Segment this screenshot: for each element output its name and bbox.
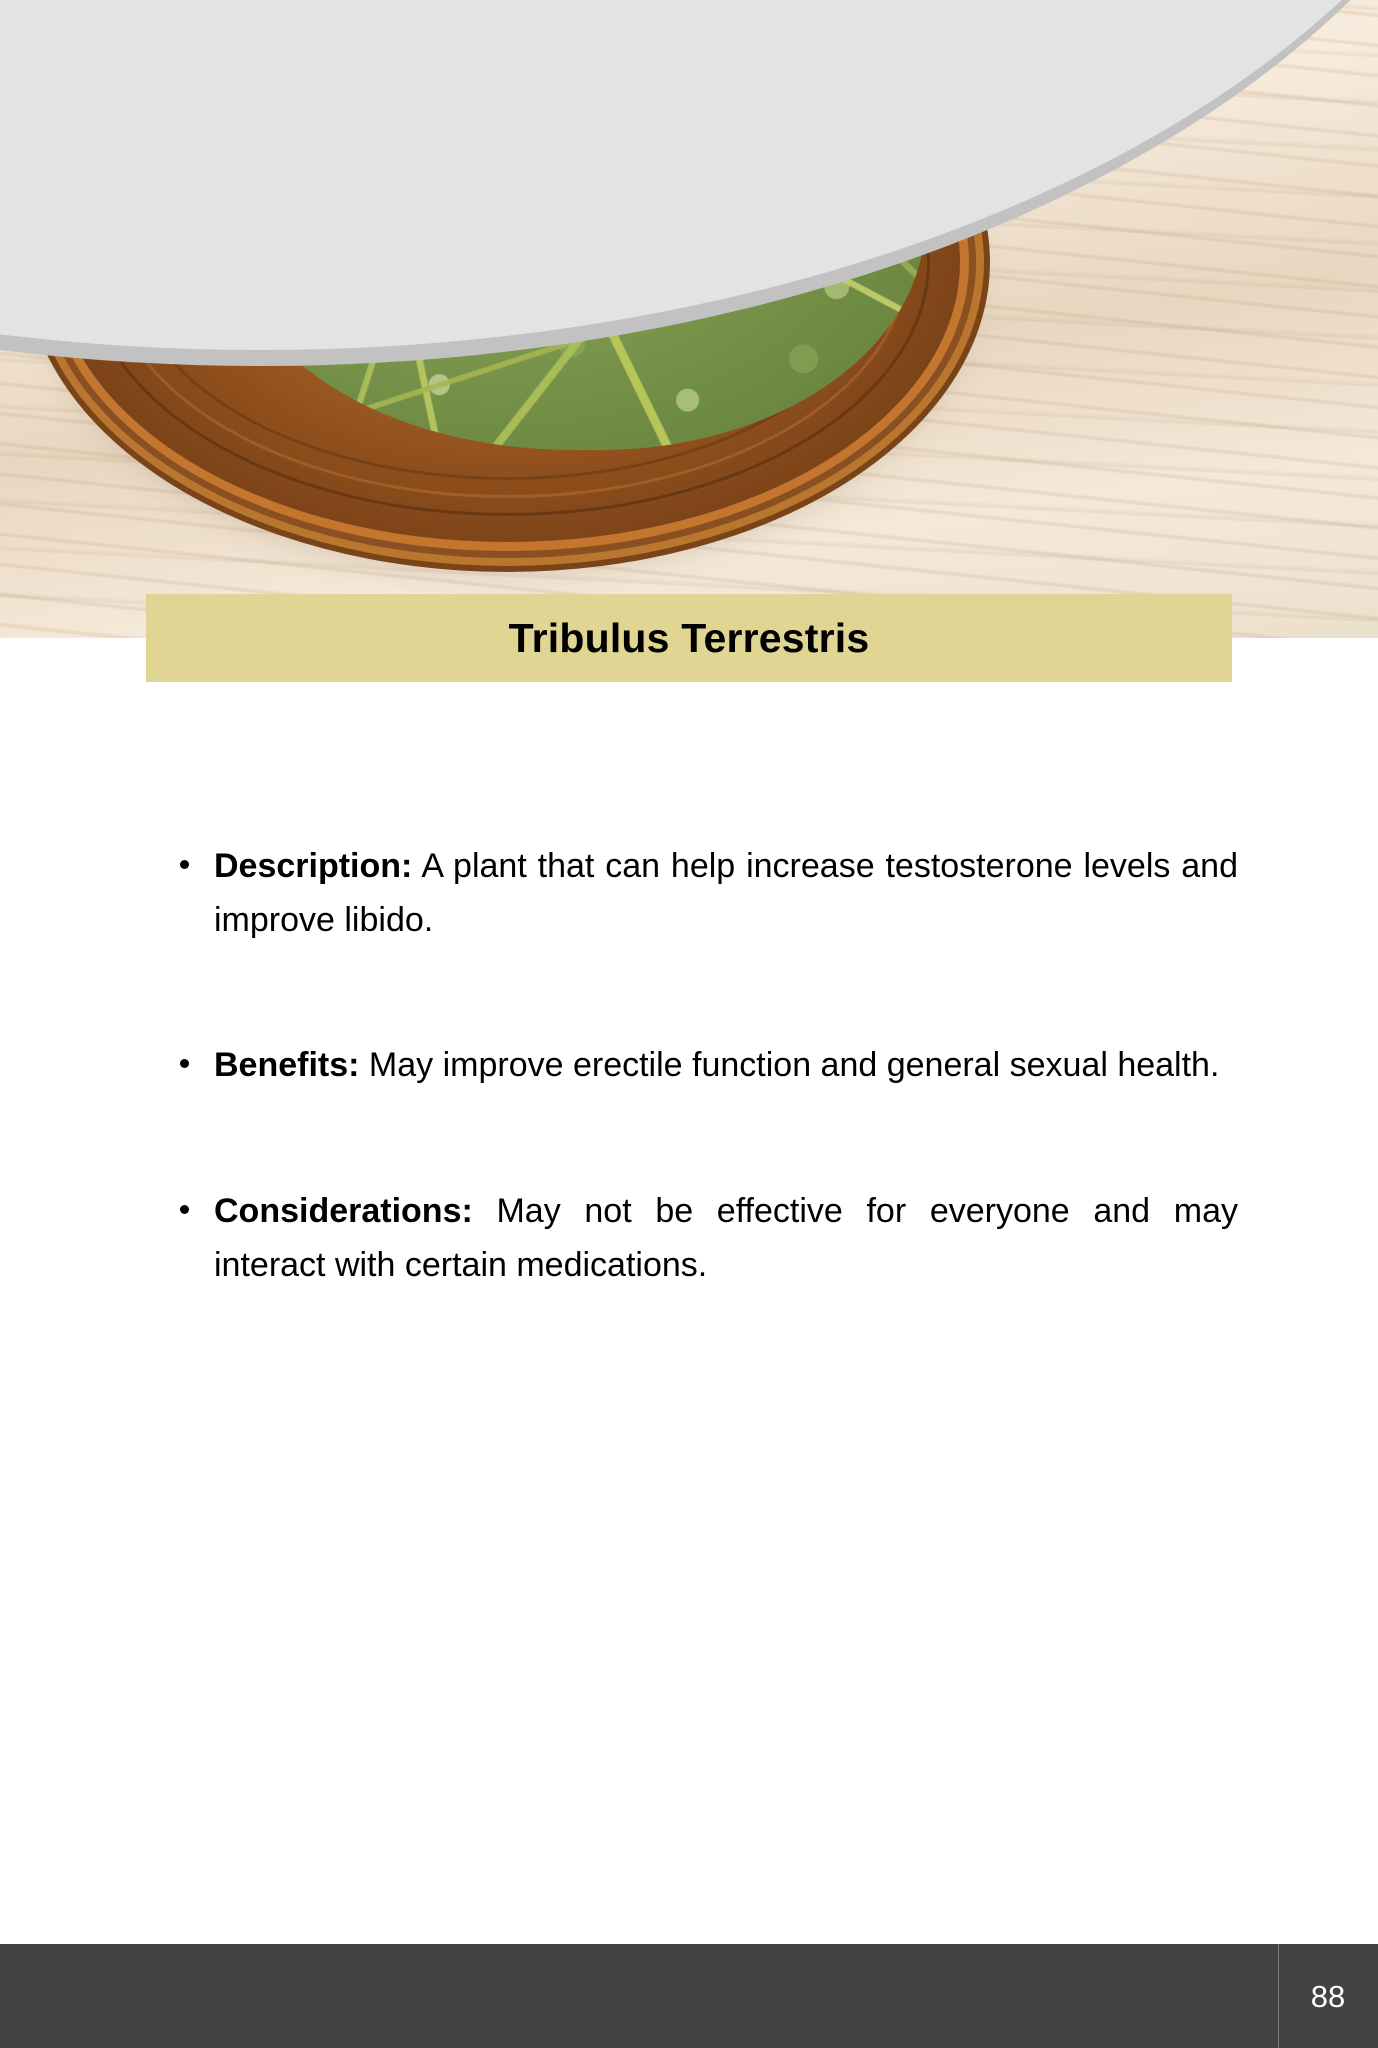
list-item: Description: A plant that can help incre… [176,840,1238,947]
bullet-list: Description: A plant that can help incre… [176,840,1238,1293]
title-banner: Tribulus Terrestris [146,594,1232,682]
dried-herb-pile [235,20,925,450]
wooden-bowl [55,0,960,542]
hero-image [0,0,1378,638]
bullet-body-text: May improve erectile function and genera… [359,1046,1219,1084]
bullet-lead-label: Description: [214,847,412,885]
list-item: Considerations: May not be effective for… [176,1185,1238,1292]
footer-bar: 88 [0,1944,1378,2048]
page-title: Tribulus Terrestris [509,618,870,659]
bullet-lead-label: Benefits: [214,1046,359,1084]
bullet-dot-icon [180,1205,189,1214]
bullet-dot-icon [180,860,189,869]
bullet-lead-label: Considerations: [214,1192,473,1230]
list-item: Benefits: May improve erectile function … [176,1039,1238,1093]
page-number: 88 [1278,1944,1378,2048]
bullet-dot-icon [180,1059,189,1068]
